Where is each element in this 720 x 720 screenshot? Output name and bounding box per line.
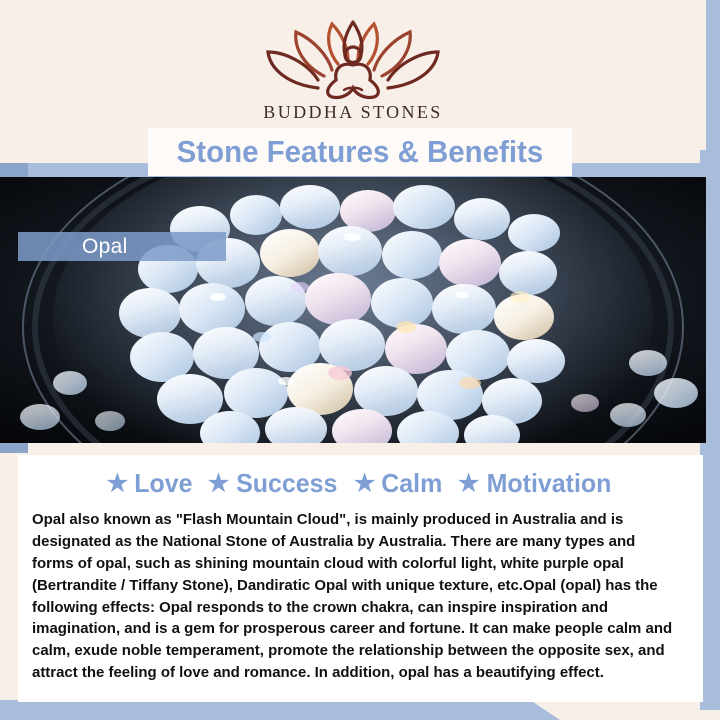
opal-stones-illustration [0,177,706,443]
benefit-label: Love [134,468,192,499]
star-icon: ★ [208,472,230,496]
benefit-item-success: ★ Success [208,468,340,499]
benefit-item-motivation: ★ Motivation [458,468,615,499]
benefit-label: Calm [382,468,443,499]
info-card: ★ Love ★ Success ★ Calm ★ Motivation Opa… [18,455,703,702]
benefit-label: Motivation [487,468,612,499]
title-band: Stone Features & Benefits [148,128,572,176]
benefit-label: Success [236,468,337,499]
benefits-row: ★ Love ★ Success ★ Calm ★ Motivation [18,455,703,499]
benefit-item-calm: ★ Calm [354,468,444,499]
photo-caption-banner: Opal [18,232,226,261]
brand-logo: BUDDHA STONES [0,18,706,123]
star-icon: ★ [354,472,376,496]
infographic-page: BUDDHA STONES Stone Features & Benefits [0,0,720,720]
star-icon: ★ [458,472,480,496]
star-icon: ★ [107,472,129,496]
product-photo [0,177,706,443]
page-title: Stone Features & Benefits [177,134,544,170]
stone-name-label: Opal [18,235,128,259]
lotus-meditation-figure-icon [258,18,448,100]
stone-description: Opal also known as "Flash Mountain Cloud… [32,509,679,684]
benefit-item-love: ★ Love [107,468,194,499]
brand-name: BUDDHA STONES [0,102,706,123]
